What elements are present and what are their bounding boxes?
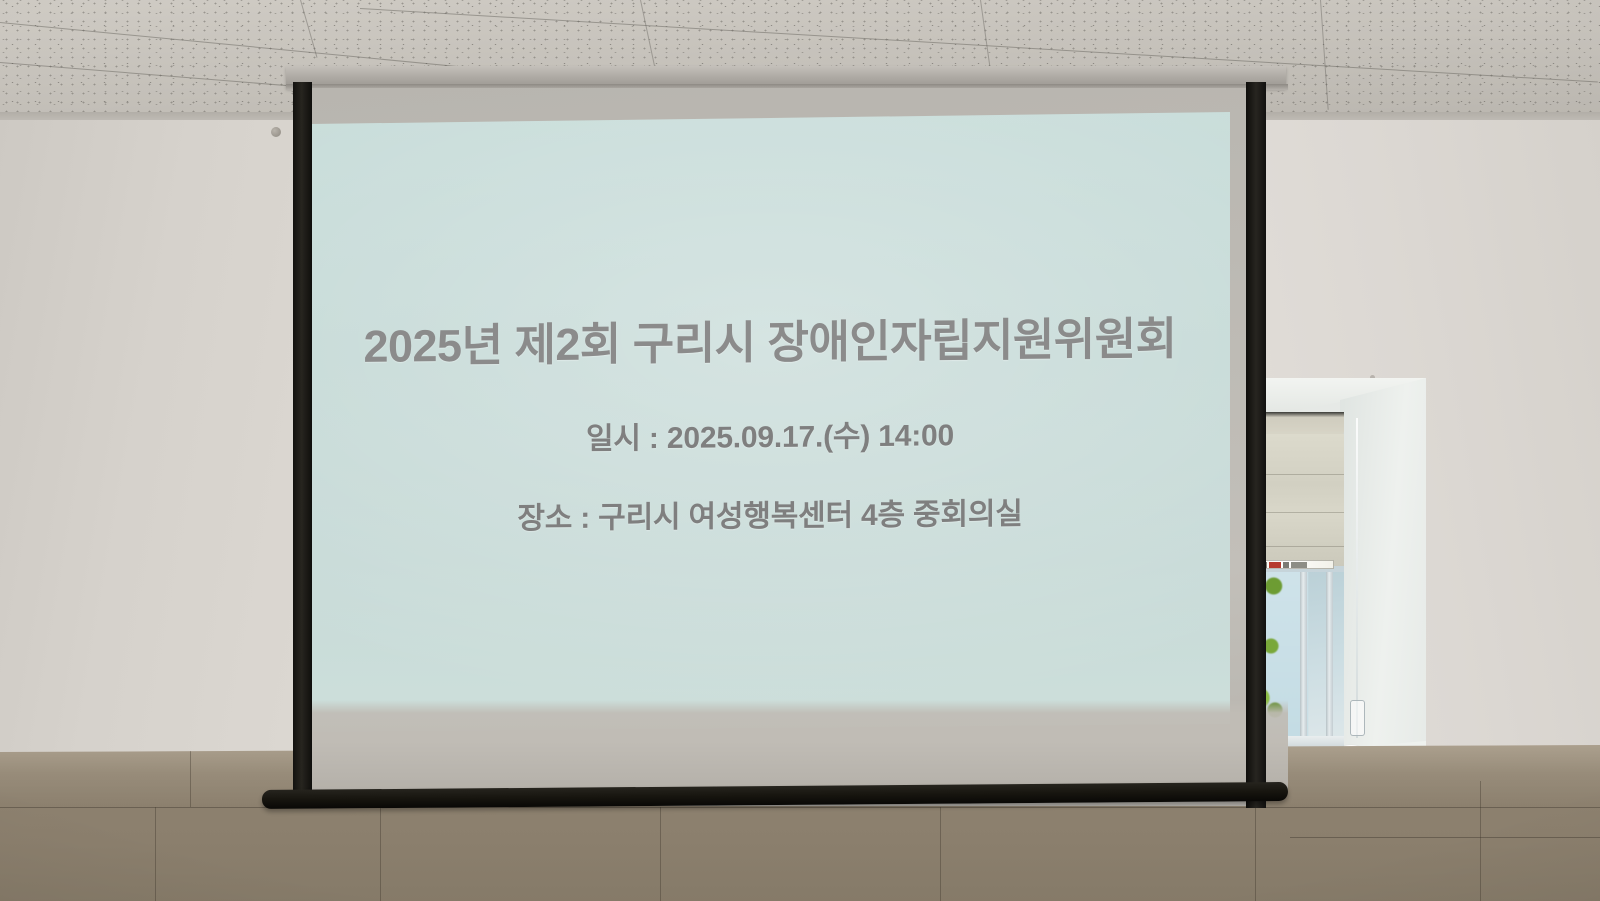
wainscot-seam-vertical xyxy=(660,807,661,901)
wainscot-seam-vertical xyxy=(1480,781,1481,901)
wainscot-seam-vertical xyxy=(190,745,191,807)
ceiling-sensor-icon xyxy=(271,127,281,137)
wall-left xyxy=(0,120,320,780)
wainscot-seam-horizontal xyxy=(1290,837,1600,838)
screen-rail-right xyxy=(1246,82,1266,808)
warning-pictogram-icon xyxy=(1283,562,1289,568)
window-mullion xyxy=(1300,572,1307,752)
window-mullion xyxy=(1326,572,1333,752)
room-photo-scene: 2025년 제2회 구리시 장애인자립지원위원회 일시 : 2025.09.17… xyxy=(0,0,1600,901)
blind-pull-cord[interactable] xyxy=(1356,418,1358,738)
blind-cord-weight[interactable] xyxy=(1350,700,1365,736)
wainscot-seam-vertical xyxy=(1255,807,1256,901)
slide-title: 2025년 제2회 구리시 장애인자립지원위원회 xyxy=(310,302,1230,376)
warning-text-icon xyxy=(1291,562,1307,568)
slide-content: 2025년 제2회 구리시 장애인자립지원위원회 일시 : 2025.09.17… xyxy=(310,92,1230,737)
screen-rail-left xyxy=(293,82,312,808)
slide-location-line: 장소 : 구리시 여성행복센터 4층 중회의실 xyxy=(310,487,1230,540)
warning-red-icon xyxy=(1269,562,1281,568)
screen-lower-fabric xyxy=(310,700,1288,792)
slide-datetime-line: 일시 : 2025.09.17.(수) 14:00 xyxy=(310,408,1230,461)
wainscot-seam-horizontal xyxy=(0,807,1600,808)
wainscot-seam-vertical xyxy=(380,807,381,901)
wainscot-seam-vertical xyxy=(155,807,156,901)
wainscot-seam-vertical xyxy=(940,807,941,901)
